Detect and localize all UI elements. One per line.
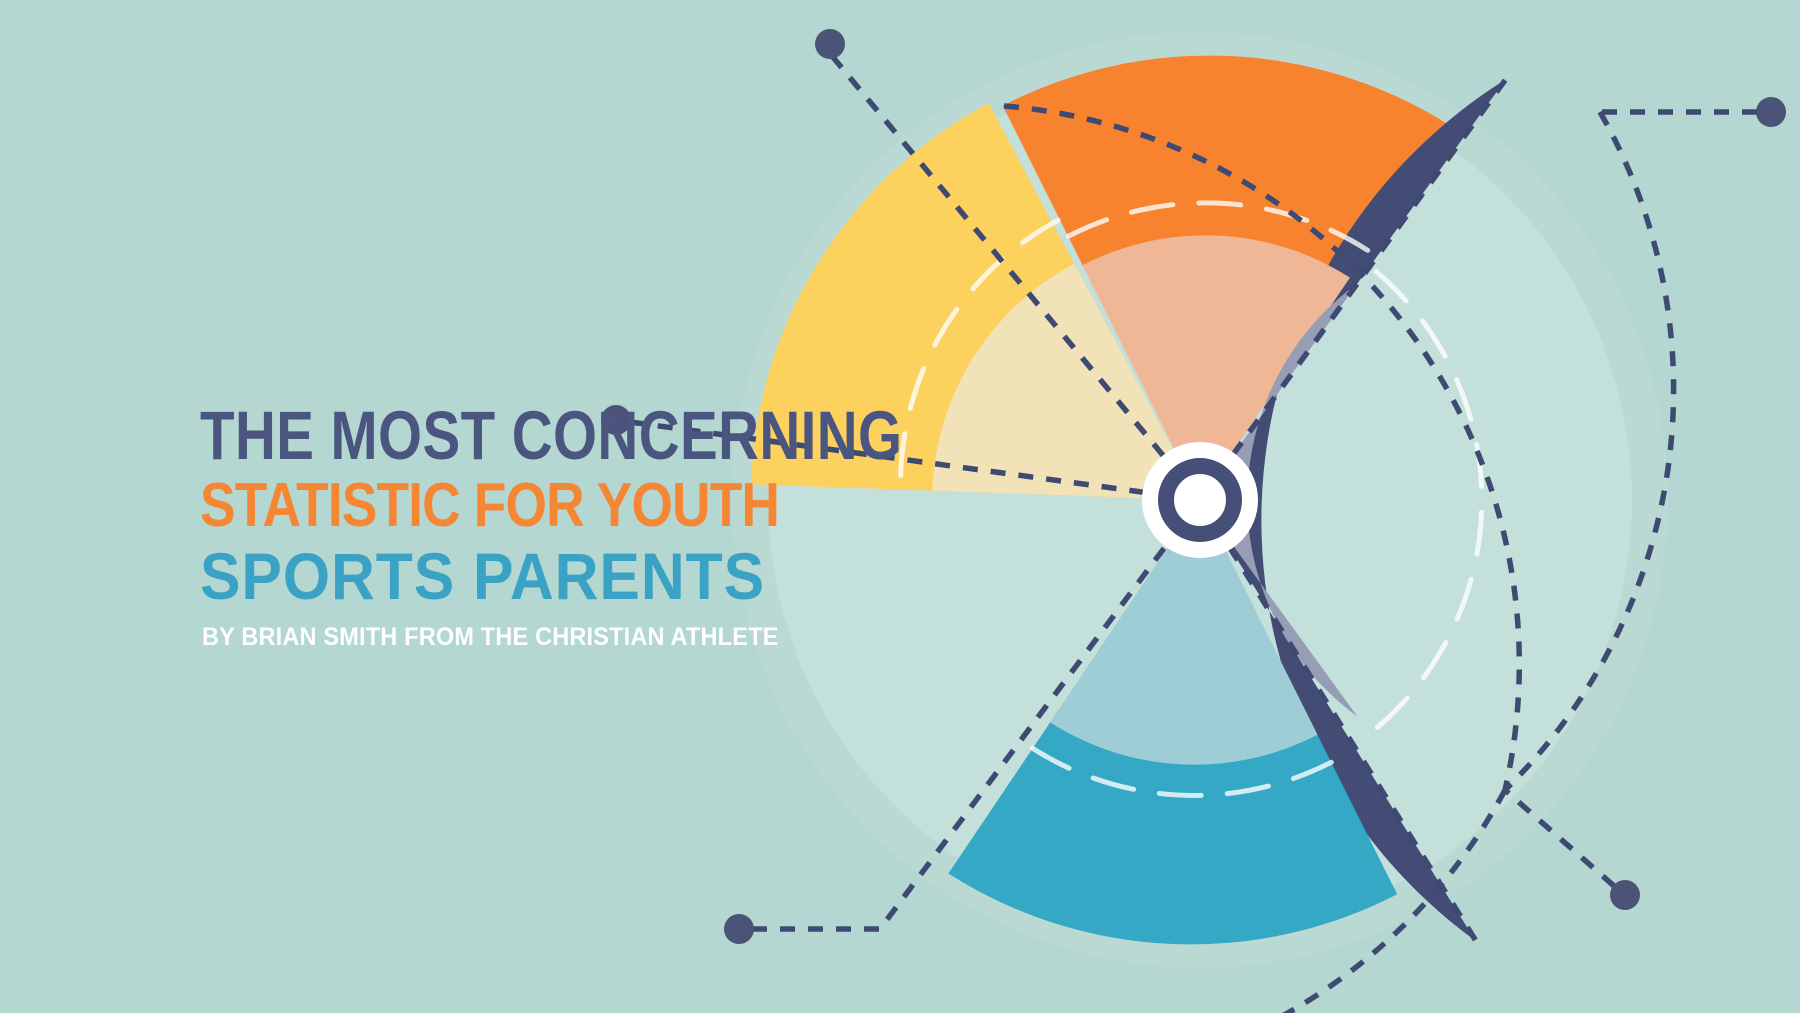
node-bottom-right bbox=[1610, 880, 1640, 910]
byline: BY BRIAN SMITH FROM THE CHRISTIAN ATHLET… bbox=[202, 623, 915, 652]
headline-line-3: SPORTS PARENTS bbox=[200, 543, 899, 609]
headline-block: THE MOST CONCERNING STATISTIC FOR YOUTH … bbox=[200, 404, 960, 652]
headline-line-2: STATISTIC FOR YOUTH bbox=[200, 475, 854, 537]
headline-line-1: THE MOST CONCERNING bbox=[200, 404, 823, 469]
poster-canvas: THE MOST CONCERNING STATISTIC FOR YOUTH … bbox=[0, 0, 1800, 1013]
center-hub bbox=[1142, 442, 1258, 558]
node-top-right bbox=[1756, 97, 1786, 127]
node-top-left bbox=[815, 29, 845, 59]
node-bottom-left bbox=[724, 914, 754, 944]
